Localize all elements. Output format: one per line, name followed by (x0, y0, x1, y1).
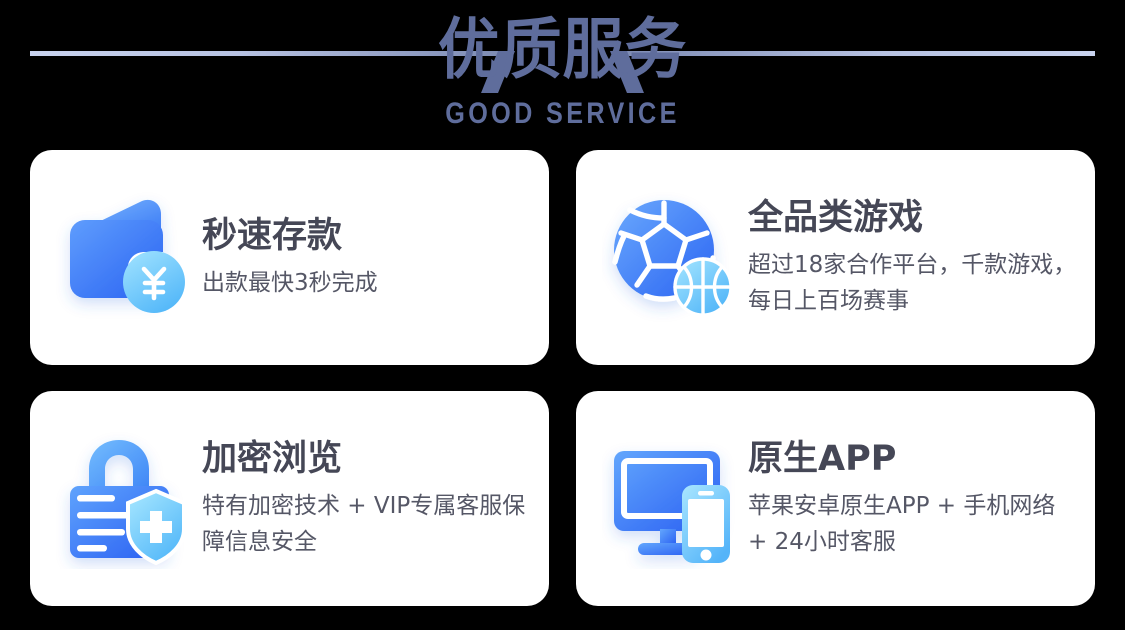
card-description: 苹果安卓原生APP + 手机网络 + 24小时客服 (748, 488, 1078, 560)
card-description: 出款最快3秒完成 (202, 265, 535, 301)
card-text-deposit: 秒速存款 出款最快3秒完成 (196, 214, 535, 301)
wallet-yen-icon (56, 188, 196, 328)
page-subtitle: GOOD SERVICE (90, 97, 1035, 131)
feature-card-native-app[interactable]: 原生APP 苹果安卓原生APP + 手机网络 + 24小时客服 (576, 391, 1095, 606)
soccer-basketball-icon (602, 188, 742, 328)
card-text-games: 全品类游戏 超过18家合作平台，千款游戏，每日上百场赛事 (742, 196, 1081, 319)
feature-card-games[interactable]: 全品类游戏 超过18家合作平台，千款游戏，每日上百场赛事 (576, 150, 1095, 365)
card-text-native-app: 原生APP 苹果安卓原生APP + 手机网络 + 24小时客服 (742, 437, 1081, 560)
card-description: 超过18家合作平台，千款游戏，每日上百场赛事 (748, 247, 1078, 319)
monitor-phone-icon (602, 429, 742, 569)
card-text-encryption: 加密浏览 特有加密技术 + VIP专属客服保障信息安全 (196, 437, 535, 560)
card-title: 秒速存款 (202, 214, 535, 258)
title-block: 优质服务 GOOD SERVICE (0, 0, 1125, 131)
feature-card-grid: 秒速存款 出款最快3秒完成 (30, 150, 1095, 606)
card-description: 特有加密技术 + VIP专属客服保障信息安全 (202, 488, 532, 560)
feature-card-encryption[interactable]: 加密浏览 特有加密技术 + VIP专属客服保障信息安全 (30, 391, 549, 606)
page-header: 优质服务 GOOD SERVICE (0, 0, 1125, 148)
card-title: 全品类游戏 (748, 196, 1081, 240)
card-title: 加密浏览 (202, 437, 535, 481)
lock-shield-icon (56, 429, 196, 569)
card-title: 原生APP (748, 437, 1081, 481)
feature-card-deposit[interactable]: 秒速存款 出款最快3秒完成 (30, 150, 549, 365)
page-title: 优质服务 (39, 4, 1085, 96)
